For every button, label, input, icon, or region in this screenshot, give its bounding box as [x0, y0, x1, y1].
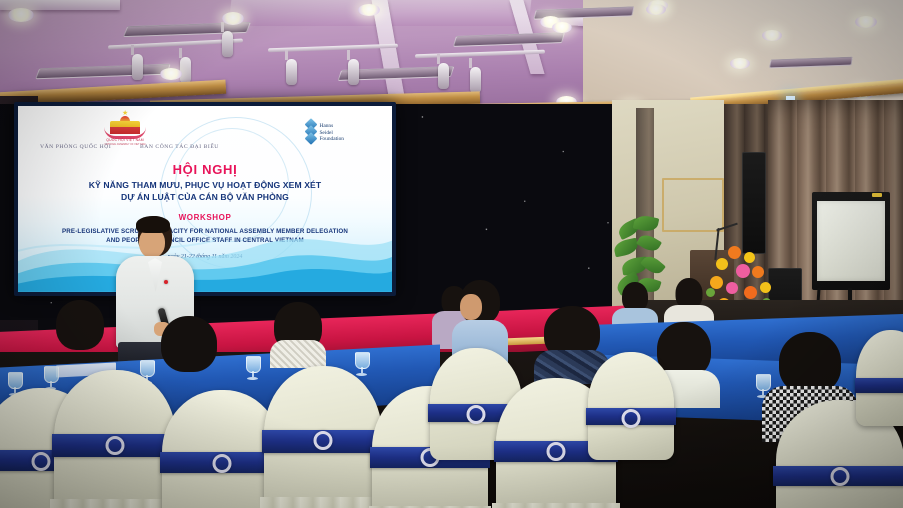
- banquet-chair: [54, 370, 176, 508]
- water-glass: [246, 356, 259, 380]
- loudspeaker-tower: [742, 152, 766, 254]
- wall-frame-decor: [662, 178, 724, 232]
- presenter-hair: [136, 216, 170, 233]
- ceiling-downlight: [855, 16, 877, 28]
- hsf-logo-text: Hanns Seidel Foundation: [319, 123, 344, 143]
- flipchart[interactable]: [812, 192, 890, 290]
- audience-member: [158, 316, 220, 376]
- ceiling-downlight: [552, 22, 572, 33]
- ceiling-downlight: [8, 8, 34, 22]
- ceiling-downlight: [762, 30, 782, 41]
- audience-member: [50, 300, 110, 356]
- audience-member: [268, 302, 328, 360]
- ceiling-downlight: [730, 58, 750, 69]
- ceiling-downlight: [160, 68, 182, 80]
- lapel-pin: [164, 280, 168, 284]
- banquet-chair: [588, 352, 674, 460]
- slide-wave-graphic: [18, 210, 392, 292]
- flipchart-clip-icon: [872, 193, 882, 197]
- national-assembly-emblem-icon: ★ QUỐC HỘI VIỆT NAM NATIONAL ASSEMBLY OF…: [104, 115, 146, 141]
- banquet-chair: [264, 366, 382, 508]
- ceiling-downlight: [646, 4, 666, 15]
- presentation-slide: ★ QUỐC HỘI VIỆT NAM NATIONAL ASSEMBLY OF…: [18, 106, 392, 292]
- ceiling-downlight: [222, 12, 244, 25]
- hsf-diamond-icon: [305, 120, 316, 146]
- slide-main-title: HỘI NGHỊ: [18, 162, 392, 177]
- hanns-seidel-foundation-logo: Hanns Seidel Foundation: [305, 120, 344, 146]
- ceiling-downlight: [358, 4, 380, 16]
- banquet-chair: [856, 330, 903, 426]
- audience-shirt: [270, 340, 326, 368]
- org-label-left: VĂN PHÒNG QUỐC HỘI: [40, 144, 111, 150]
- org-label-right: BAN CÔNG TÁC ĐẠI BIỂU: [140, 144, 219, 150]
- conference-room-photo: ★ QUỐC HỘI VIỆT NAM NATIONAL ASSEMBLY OF…: [0, 0, 903, 508]
- slide-subtitle: KỸ NĂNG THAM MƯU, PHỤC VỤ HOẠT ĐỘNG XEM …: [18, 180, 392, 203]
- projection-screen: ★ QUỐC HỘI VIỆT NAM NATIONAL ASSEMBLY OF…: [14, 102, 396, 296]
- audience-face: [460, 294, 482, 320]
- slide-logo-row: ★ QUỐC HỘI VIỆT NAM NATIONAL ASSEMBLY OF…: [18, 110, 392, 156]
